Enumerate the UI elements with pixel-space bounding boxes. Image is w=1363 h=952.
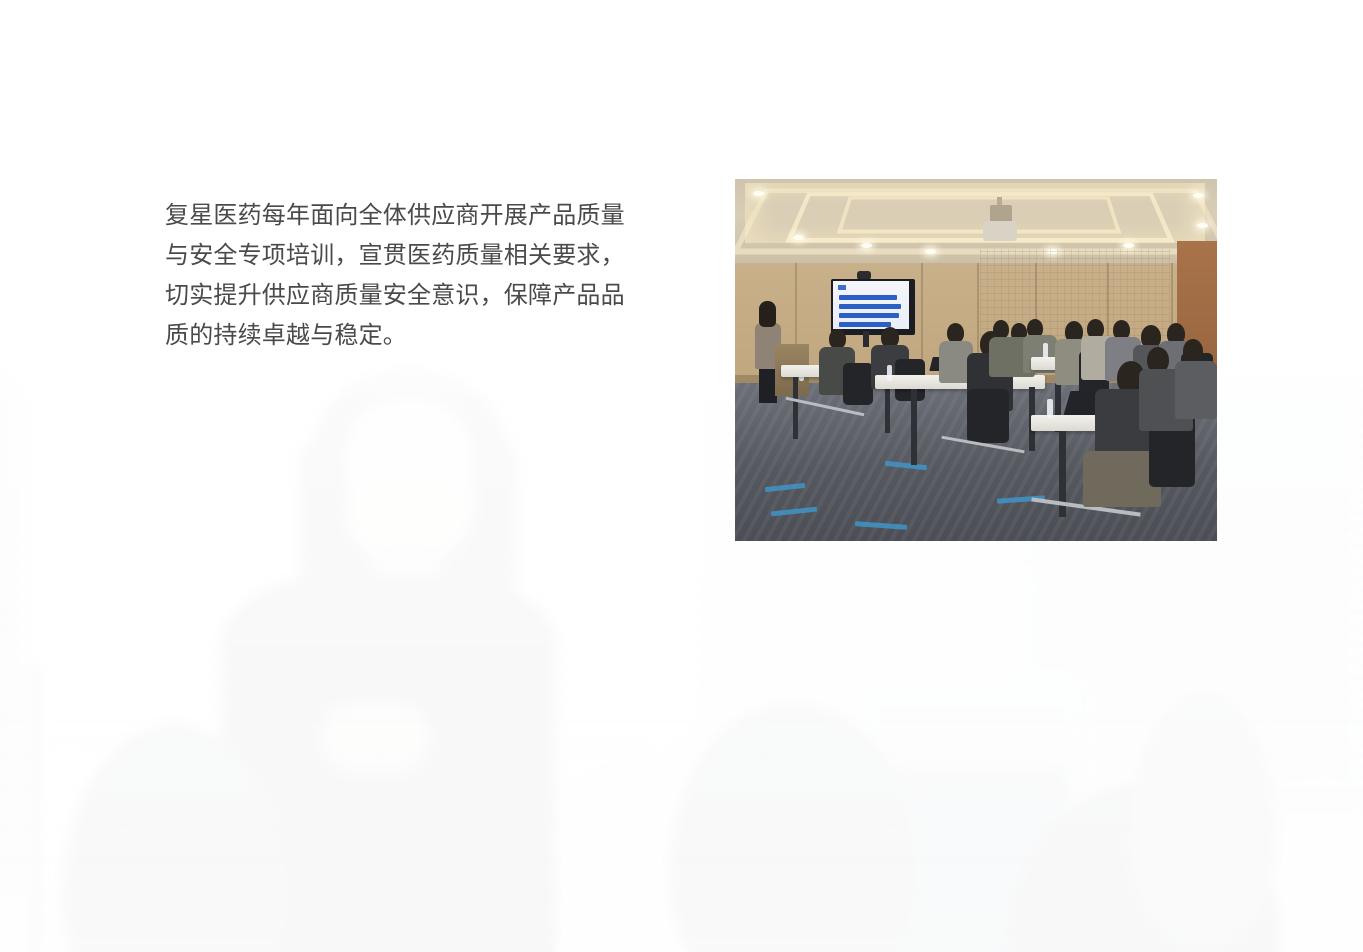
photo-slide-bar xyxy=(839,322,891,327)
watermark-lectern xyxy=(864,677,1080,952)
watermark-presenter-face xyxy=(345,397,473,562)
photo-cove-light-glow xyxy=(745,183,1205,243)
watermark-audience-head xyxy=(1010,785,1280,952)
watermark-audience-head xyxy=(668,703,918,952)
photo-chair xyxy=(967,389,1009,443)
photo-water-bottle xyxy=(1047,399,1053,418)
photo-attendee-head xyxy=(947,323,964,343)
photo-downlight xyxy=(1123,243,1134,248)
photo-water-bottle xyxy=(887,365,892,381)
watermark-wall-edge xyxy=(0,335,30,895)
watermark-audience-head xyxy=(1128,693,1278,943)
photo-display-screen xyxy=(831,279,915,335)
watermark-presenter-hair-right xyxy=(450,435,516,665)
body-paragraph: 复星医药每年面向全体供应商开展产品质量与安全专项培训，宣贯医药质量相关要求，切实… xyxy=(165,196,647,356)
photo-downlight xyxy=(1193,193,1204,198)
photo-attendee-body xyxy=(1175,361,1217,419)
watermark-lectern-mesh xyxy=(880,767,1068,952)
photo-presenter-head xyxy=(759,301,776,327)
photo-attendee-head xyxy=(829,329,846,349)
watermark-wall xyxy=(0,335,700,895)
photo-downlight xyxy=(925,249,936,254)
photo-downlight xyxy=(861,243,872,248)
photo-downlight xyxy=(753,191,764,196)
watermark-presenter-hair xyxy=(305,365,515,625)
photo-downlight xyxy=(1197,223,1208,228)
photo-ceiling-projector xyxy=(983,221,1017,241)
photo-water-bottle xyxy=(1043,343,1048,359)
photo-slide-bar xyxy=(839,313,899,318)
photo-table-leg xyxy=(793,377,798,439)
photo-slide-logo xyxy=(838,285,846,290)
photo-slide-bar xyxy=(839,295,897,300)
photo-table-leg xyxy=(911,389,917,465)
watermark-presenter-hands xyxy=(320,703,430,773)
training-session-photo: 供应商产品质量与安全专项培训现场 xyxy=(735,179,1217,541)
photo-downlight xyxy=(793,235,804,240)
photo-attendee-head xyxy=(1183,339,1203,363)
photo-chair xyxy=(843,363,873,405)
watermark-whiteboard xyxy=(28,341,648,743)
photo-display-stand xyxy=(863,331,869,347)
watermark-presenter-neck xyxy=(372,550,442,610)
watermark-presenter-body xyxy=(222,575,555,952)
photo-slide-bar xyxy=(839,304,901,309)
watermark-audience-head xyxy=(62,725,287,952)
watermark-presenter-hair-left xyxy=(300,435,358,665)
watermark-pole xyxy=(30,665,40,952)
watermark-window-sill xyxy=(1020,787,1363,817)
photo-slide-surface xyxy=(833,281,909,329)
